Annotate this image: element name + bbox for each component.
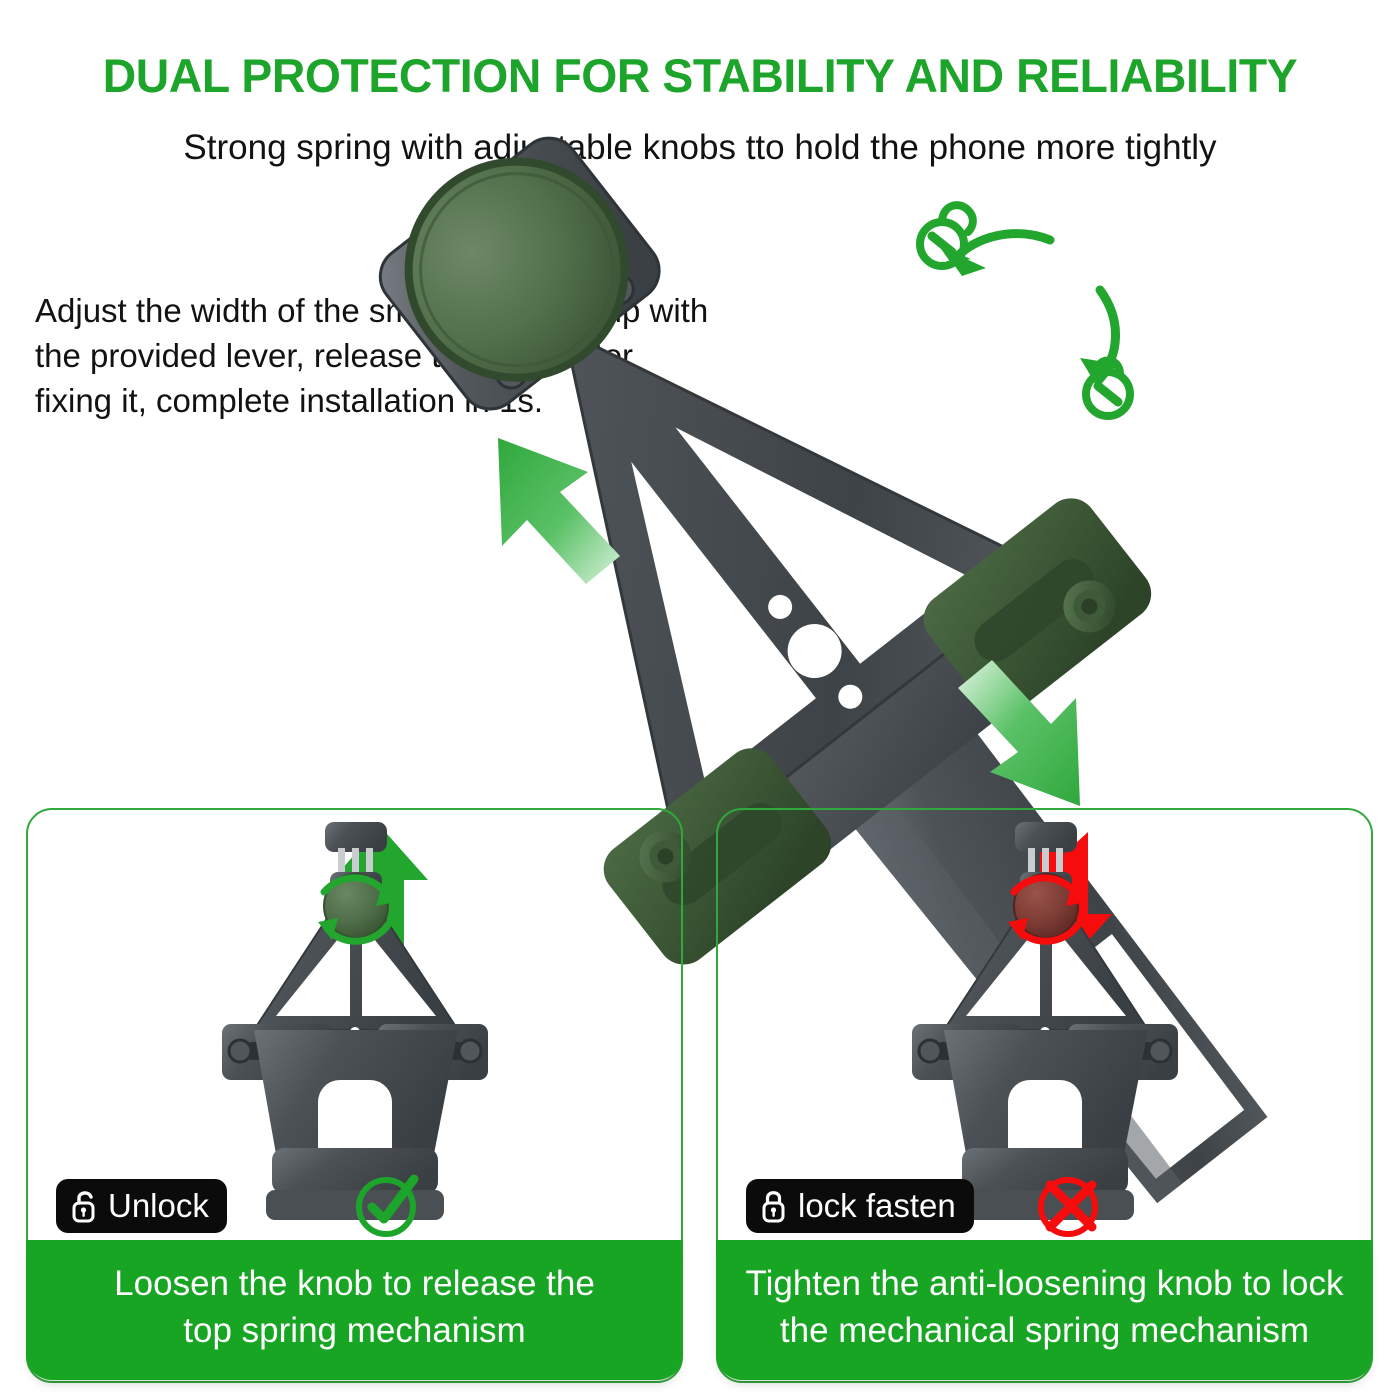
instruction-paragraph: Adjust the width of the smartphone clamp… xyxy=(35,288,795,423)
unlock-padlock-icon xyxy=(70,1188,100,1224)
caption-lock: Tighten the anti-loosening knob to lock … xyxy=(716,1240,1373,1380)
expand-arrow-up-left-icon xyxy=(498,438,620,584)
expand-arrow-down-right-icon xyxy=(958,660,1080,806)
page-subtitle: Strong spring with adjustable knobs tto … xyxy=(0,128,1400,168)
lock-padlock-hint-icon xyxy=(1086,361,1130,417)
status-badge-unlock-label: Unlock xyxy=(108,1187,209,1225)
unlock-padlock-hint-icon xyxy=(920,205,973,266)
check-circle-icon xyxy=(352,1169,424,1241)
status-badge-lock-label: lock fasten xyxy=(798,1187,956,1225)
clamp-pad-right xyxy=(913,488,1162,725)
status-badge-unlock: Unlock xyxy=(56,1179,227,1233)
page-title: DUAL PROTECTION FOR STABILITY AND RELIAB… xyxy=(11,48,1390,103)
status-badge-lock: lock fasten xyxy=(746,1179,974,1233)
cross-circle-icon xyxy=(1034,1169,1106,1241)
rotate-counterclockwise-arrow-icon xyxy=(939,234,1050,276)
caption-unlock: Loosen the knob to release the top sprin… xyxy=(26,1240,683,1380)
lock-padlock-icon xyxy=(760,1188,790,1224)
rotate-clockwise-arrow-icon xyxy=(1080,290,1118,388)
